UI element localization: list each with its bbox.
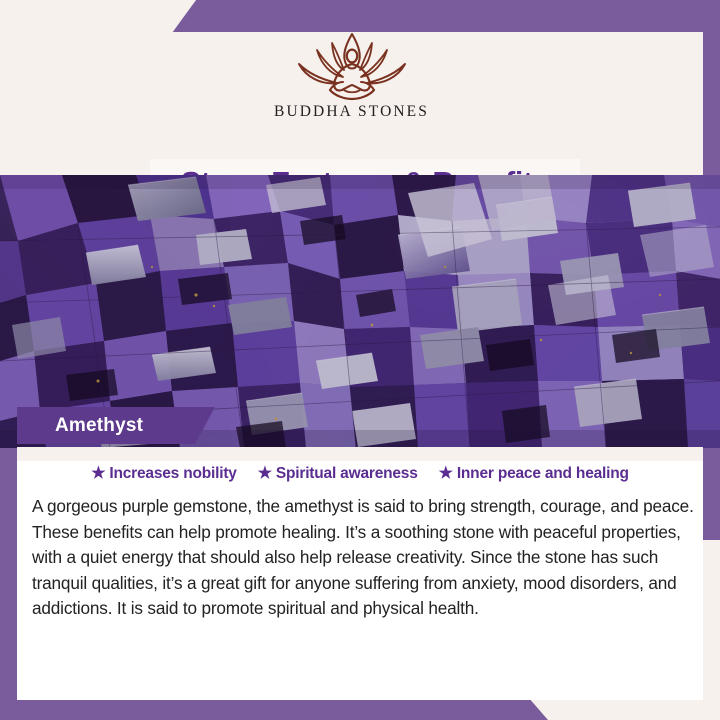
top-left-paper-corner bbox=[0, 0, 200, 33]
stone-features-poster: BUDDHA STONES Stone Features & Benefits bbox=[0, 0, 720, 720]
stone-name: Amethyst bbox=[17, 415, 143, 437]
brand-name: BUDDHA STONES bbox=[274, 103, 429, 121]
content-card: ★ Increases nobility ★ Spiritual awarene… bbox=[17, 447, 703, 700]
star-icon: ★ bbox=[439, 466, 453, 482]
brand-logo: BUDDHA STONES bbox=[0, 30, 703, 121]
star-icon: ★ bbox=[258, 466, 272, 482]
benefits-list: ★ Increases nobility ★ Spiritual awarene… bbox=[17, 465, 703, 483]
stone-description: A gorgeous purple gemstone, the amethyst… bbox=[32, 494, 697, 622]
benefit-label: Increases nobility bbox=[109, 465, 236, 483]
card-top-tint-strip bbox=[17, 447, 703, 461]
star-icon: ★ bbox=[91, 466, 105, 482]
stone-name-banner: Amethyst bbox=[17, 407, 215, 444]
benefit-item: ★ Inner peace and healing bbox=[439, 465, 629, 483]
lotus-meditation-icon bbox=[277, 30, 427, 102]
left-purple-band bbox=[0, 447, 17, 720]
benefit-item: ★ Increases nobility bbox=[91, 465, 237, 483]
benefit-item: ★ Spiritual awareness bbox=[258, 465, 418, 483]
benefit-label: Spiritual awareness bbox=[276, 465, 418, 483]
bottom-purple-band bbox=[0, 697, 560, 720]
header: BUDDHA STONES Stone Features & Benefits bbox=[0, 32, 703, 175]
benefit-label: Inner peace and healing bbox=[457, 465, 629, 483]
